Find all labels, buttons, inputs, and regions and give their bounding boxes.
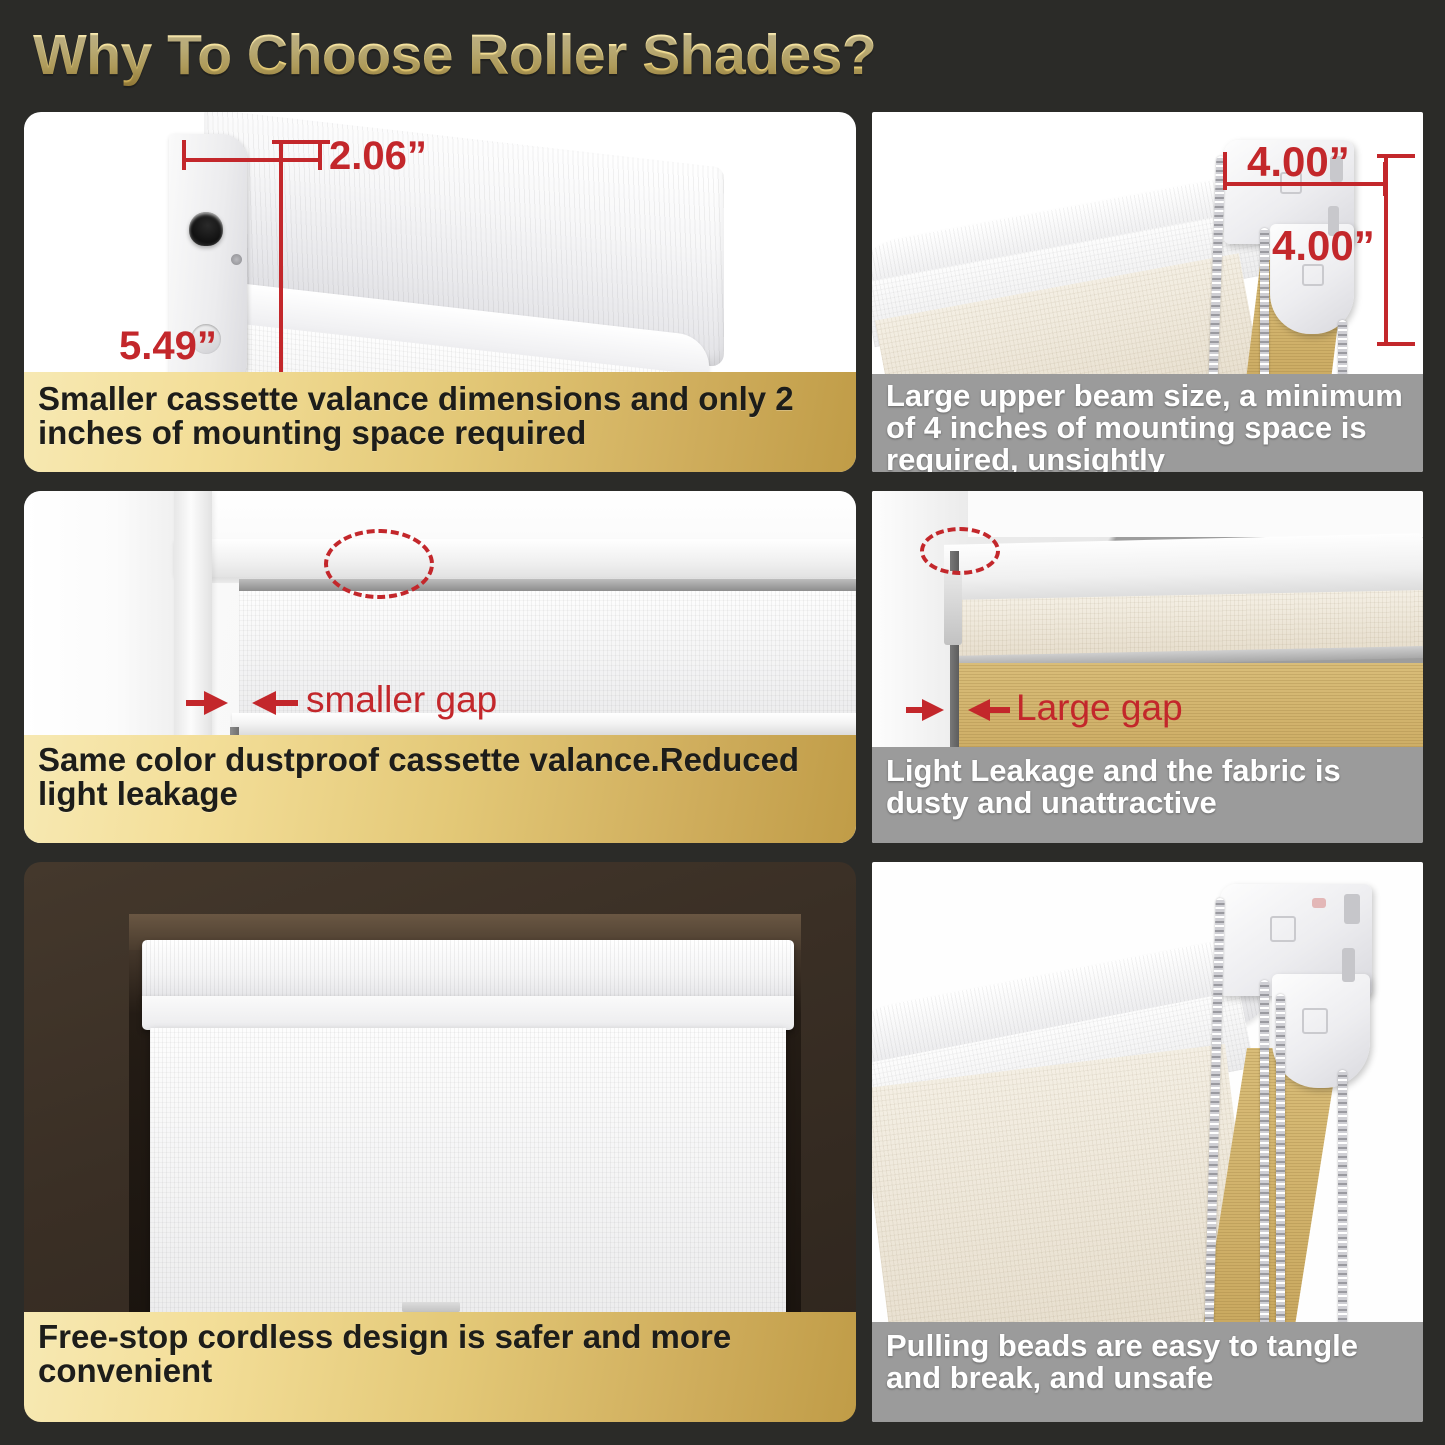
bracket-logo-mark-2 [1302, 1008, 1328, 1034]
gap-arrow-right-icon [968, 699, 990, 721]
shade-fabric [150, 1028, 786, 1328]
gap-callout-label: Large gap [1016, 687, 1183, 729]
bracket-logo-mark [1270, 916, 1296, 942]
title-bar: Why To Choose Roller Shades? [0, 0, 1445, 104]
valance-lower-edge [142, 996, 794, 1030]
gap-arrow-right-shaft [988, 707, 1010, 713]
panel-4-caption-text: Light Leakage and the fabric is dusty an… [886, 753, 1341, 820]
bead-chain-middle-a [1260, 980, 1269, 1338]
panel-2: 4.00” 4.00” Large upper beam size, a min… [872, 112, 1423, 472]
gap-callout-label: smaller gap [306, 679, 497, 721]
panel-2-caption: Large upper beam size, a minimum of 4 in… [872, 374, 1423, 472]
window-head-moulding [174, 539, 856, 577]
bracket-screw-hole [1312, 898, 1326, 908]
panel-6-caption-text: Pulling beads are easy to tangle and bre… [886, 1328, 1358, 1395]
bracket-mount-slot-2 [1342, 948, 1355, 982]
width-dim-tick-right [318, 140, 322, 170]
height-dimension-label: 4.00” [1272, 222, 1375, 270]
mounting-clip [944, 571, 962, 645]
bead-chain-middle-b [1276, 994, 1285, 1338]
panel-6: Pulling beads are easy to tangle and bre… [872, 862, 1423, 1422]
bead-chain-right [1338, 1070, 1347, 1338]
highlight-ellipse-icon [920, 527, 1000, 575]
height-dim-tick-bottom [1377, 342, 1415, 346]
panel-1: 2.06” 5.49” Smaller cassette valance dim… [24, 112, 856, 472]
bracket-mount-slot-1 [1344, 894, 1360, 924]
highlight-ellipse-icon [324, 529, 434, 599]
cassette-headrail [142, 940, 794, 1002]
gap-arrow-left-shaft [906, 707, 926, 713]
width-dimension-label: 2.06” [329, 134, 427, 179]
page-title: Why To Choose Roller Shades? [33, 22, 876, 88]
panel-5-caption-text: Free-stop cordless design is safer and m… [38, 1318, 731, 1389]
width-dim-tick-left [182, 140, 186, 170]
width-dim-tick-left [1223, 152, 1227, 190]
panel-4-caption: Light Leakage and the fabric is dusty an… [872, 747, 1423, 843]
panel-2-caption-text: Large upper beam size, a minimum of 4 in… [886, 378, 1403, 472]
height-dimension-label: 5.49” [119, 324, 217, 369]
panel-1-caption-text: Smaller cassette valance dimensions and … [38, 380, 794, 451]
bracket-screw [231, 254, 242, 265]
panel-4: Large gap Light Leakage and the fabric i… [872, 491, 1423, 843]
gap-arrow-right-icon [252, 691, 276, 715]
panel-3-caption-text: Same color dustproof cassette valance.Re… [38, 741, 799, 812]
panel-5: Free-stop cordless design is safer and m… [24, 862, 856, 1422]
panel-6-caption: Pulling beads are easy to tangle and bre… [872, 1322, 1423, 1422]
bracket-slot-upper [189, 212, 223, 246]
gap-arrow-right-shaft [274, 700, 298, 706]
gap-arrow-left-shaft [186, 700, 208, 706]
width-dim-line [184, 158, 322, 162]
width-dimension-label: 4.00” [1247, 138, 1350, 186]
height-dim-tick-top [272, 140, 330, 144]
panel-3-caption: Same color dustproof cassette valance.Re… [24, 735, 856, 843]
panel-3: smaller gap Same color dustproof cassett… [24, 491, 856, 843]
height-dim-line [1384, 156, 1388, 346]
panel-1-caption: Smaller cassette valance dimensions and … [24, 372, 856, 472]
height-dim-tick-top [1377, 154, 1415, 158]
brand-tab [402, 1302, 460, 1312]
panel-5-caption: Free-stop cordless design is safer and m… [24, 1312, 856, 1422]
